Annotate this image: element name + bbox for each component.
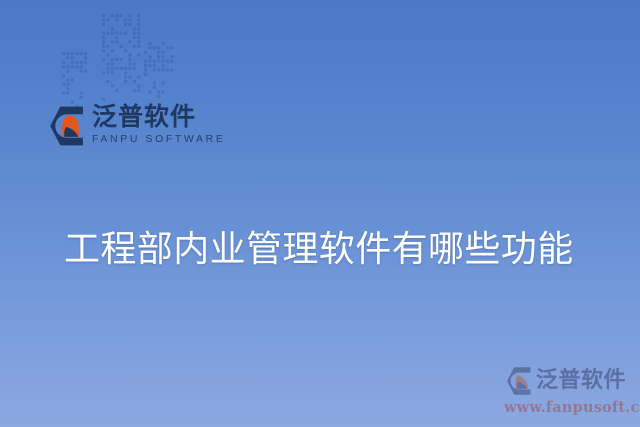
fanpu-hexagon-sail-logo-icon [504,366,534,396]
poster-canvas: 泛普软件 FANPU SOFTWARE 工程部内业管理软件有哪些功能 泛普软件 … [0,0,640,427]
brand-wordmark: 泛普软件 FANPU SOFTWARE [92,104,225,145]
watermark: 泛普软件 www.fanpusoft.com [504,366,636,416]
watermark-logo-row: 泛普软件 [504,366,636,396]
watermark-url: www.fanpusoft.com [504,399,636,416]
brand-name-cn: 泛普软件 [92,104,225,129]
pixel-city-skyline-icon [60,8,180,108]
watermark-name-cn: 泛普软件 [536,370,626,392]
brand-name-en: FANPU SOFTWARE [92,134,225,145]
page-title: 工程部内业管理软件有哪些功能 [64,227,584,273]
fanpu-hexagon-sail-logo-icon [46,105,88,147]
brand-logo: 泛普软件 FANPU SOFTWARE [46,104,225,147]
